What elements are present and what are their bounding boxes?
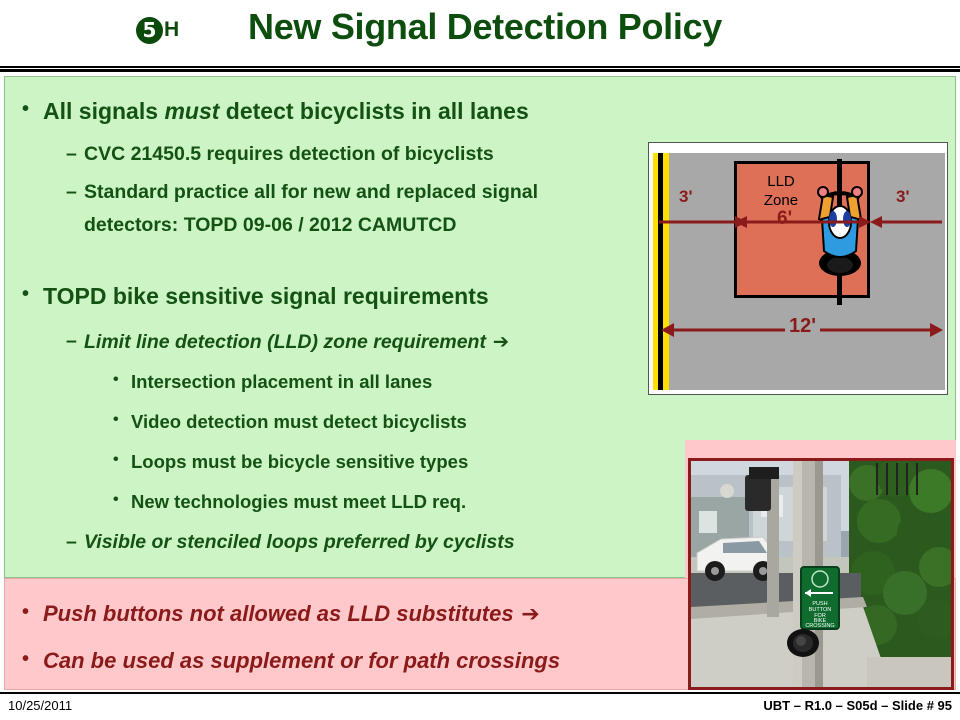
dimension-label-right: 3' <box>896 187 910 207</box>
page-title: New Signal Detection Policy <box>248 6 808 48</box>
badge-letter: H <box>164 18 179 42</box>
dimension-label-center: 6' <box>777 208 792 230</box>
bullet-l3-intersection: • Intersection placement in all lanes <box>113 371 432 393</box>
dimension-label-total: 12' <box>785 315 820 338</box>
bullet-marker: – <box>66 330 77 353</box>
bullet-text: detectors: TOPD 09-06 / 2012 CAMUTCD <box>84 214 456 237</box>
bullet-marker: • <box>113 371 119 389</box>
pink-bullet-supplement: • Can be used as supplement or for path … <box>22 648 560 674</box>
lld-zone-label: LLD Zone <box>751 172 811 210</box>
dimension-center-6ft <box>735 211 871 233</box>
bullet-text: Video detection must detect bicyclists <box>131 411 467 433</box>
bullet-l3-video: • Video detection must detect bicyclists <box>113 411 467 433</box>
bullet-marker: • <box>113 411 119 429</box>
bullet-text: TOPD bike sensitive signal requirements <box>43 283 489 310</box>
lld-zone-diagram: LLD Zone <box>648 142 948 395</box>
bullet-marker: • <box>22 648 29 671</box>
bullet-text: Intersection placement in all lanes <box>131 371 432 393</box>
bullet-text: Standard practice all for new and replac… <box>84 181 538 204</box>
bullet-text: All signals must detect bicyclists in al… <box>43 98 529 125</box>
bullet-text-main: Limit line detection (LLD) zone requirem… <box>84 331 486 353</box>
bullet-l2-visible-loops: – Visible or stenciled loops preferred b… <box>66 531 515 554</box>
pink-bullet-push-buttons: • Push buttons not allowed as LLD substi… <box>22 601 540 627</box>
footer-date: 10/25/2011 <box>8 698 72 713</box>
bullet-text: Visible or stenciled loops preferred by … <box>84 531 515 554</box>
bullet-l3-new-tech: • New technologies must meet LLD req. <box>113 491 466 513</box>
badge-number-icon: 5 <box>136 17 163 44</box>
bullet-marker: • <box>113 491 119 509</box>
bullet-marker: • <box>22 283 29 306</box>
slide-title-bar: 5 H New Signal Detection Policy <box>0 0 960 62</box>
dimension-label-left: 3' <box>679 187 693 207</box>
bullet-marker: • <box>22 98 29 121</box>
title-divider <box>0 66 960 72</box>
bullet-l2-standard-practice-cont: detectors: TOPD 09-06 / 2012 CAMUTCD <box>66 214 456 237</box>
bullet-l1-topd: • TOPD bike sensitive signal requirement… <box>22 283 489 310</box>
black-center-stripe <box>658 153 663 390</box>
bullet-text: Can be used as supplement or for path cr… <box>43 648 560 674</box>
photo-content: PUSH BUTTON FOR BIKE CROSSING <box>691 461 951 687</box>
bullet-l2-cvc: – CVC 21450.5 requires detection of bicy… <box>66 143 494 166</box>
bullet-marker: – <box>66 143 77 166</box>
bullet-marker: – <box>66 531 77 554</box>
footer-divider <box>0 692 960 694</box>
section-badge: 5 H <box>136 10 179 50</box>
bullet-text: Push buttons not allowed as LLD substitu… <box>43 601 540 627</box>
footer-reference: UBT – R1.0 – S05d – Slide # 95 <box>763 698 952 713</box>
right-arrow-icon: ➔ <box>514 602 540 627</box>
bullet-text: Limit line detection (LLD) zone requirem… <box>84 330 509 354</box>
bullet-text-main: Push buttons not allowed as LLD substitu… <box>43 601 514 626</box>
right-arrow-icon: ➔ <box>486 330 509 353</box>
slide-canvas: 5 H New Signal Detection Policy • All si… <box>0 0 960 720</box>
bullet-marker: • <box>22 601 29 624</box>
bullet-marker: • <box>113 451 119 469</box>
bullet-l1-all-signals: • All signals must detect bicyclists in … <box>22 98 529 125</box>
svg-text:CROSSING: CROSSING <box>805 623 834 629</box>
dimension-right-3ft <box>868 211 944 233</box>
push-button-photo: PUSH BUTTON FOR BIKE CROSSING <box>688 458 954 690</box>
bullet-l2-limit-line: – Limit line detection (LLD) zone requir… <box>66 330 509 354</box>
bullet-marker: – <box>66 181 77 204</box>
bullet-text: New technologies must meet LLD req. <box>131 491 466 513</box>
bullet-l3-loops: • Loops must be bicycle sensitive types <box>113 451 468 473</box>
bullet-text: CVC 21450.5 requires detection of bicycl… <box>84 143 494 166</box>
bullet-l2-standard-practice: – Standard practice all for new and repl… <box>66 181 538 204</box>
bullet-text: Loops must be bicycle sensitive types <box>131 451 468 473</box>
